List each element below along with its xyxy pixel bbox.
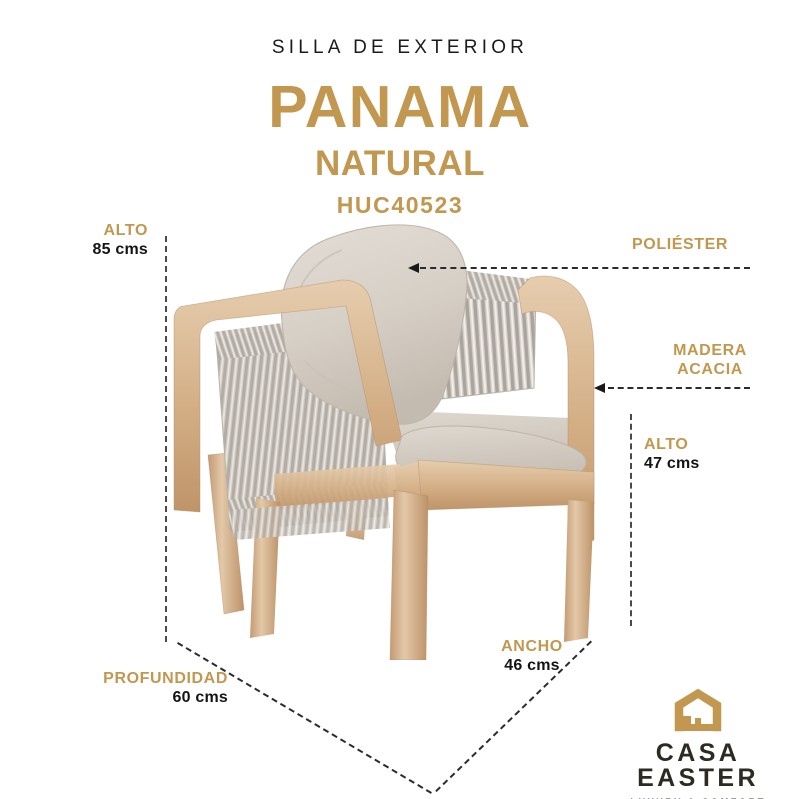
annotation-ancho-value: 46 cms	[468, 657, 596, 676]
product-variant: NATURAL	[0, 146, 800, 181]
brand-name: CASA EASTER	[598, 741, 798, 791]
annotation-profundidad-title: PROFUNDIDAD	[0, 670, 228, 689]
annotation-madera-acacia: MADERA ACACIA	[620, 342, 800, 380]
annotation-alto-total: ALTO 85 cms	[0, 222, 148, 260]
annotation-alto-total-title: ALTO	[0, 222, 148, 241]
guide-poliester-arrowhead	[408, 263, 419, 273]
product-image	[170, 210, 620, 660]
guide-madera-line	[608, 387, 750, 389]
product-model: PANAMA	[0, 78, 800, 137]
product-category: SILLA DE EXTERIOR	[0, 38, 800, 57]
guide-madera-arrowhead	[594, 383, 605, 393]
annotation-ancho-title: ANCHO	[468, 638, 596, 657]
annotation-poliester-title: POLIÉSTER	[632, 236, 800, 255]
header-block: SILLA DE EXTERIOR PANAMA NATURAL HUC4052…	[0, 0, 800, 217]
annotation-alto-total-value: 85 cms	[0, 241, 148, 260]
annotation-ancho: ANCHO 46 cms	[468, 638, 596, 676]
annotation-alto-asiento-title: ALTO	[644, 436, 794, 455]
annotation-alto-asiento: ALTO 47 cms	[644, 436, 794, 474]
guide-poliester-line	[420, 267, 750, 269]
guide-alto-total-vertical	[165, 236, 167, 642]
product-infographic: SILLA DE EXTERIOR PANAMA NATURAL HUC4052…	[0, 0, 800, 799]
annotation-madera-acacia-title: MADERA	[620, 342, 800, 361]
annotation-profundidad: PROFUNDIDAD 60 cms	[0, 670, 228, 708]
brand-logo: CASA EASTER LUXURY & COMFORT	[598, 686, 798, 799]
annotation-profundidad-value: 60 cms	[0, 689, 228, 708]
annotation-madera-acacia-title-line2: ACACIA	[620, 361, 800, 380]
guide-profundidad-diagonal	[177, 642, 432, 794]
chair-illustration	[170, 210, 620, 660]
house-arch-icon	[671, 686, 725, 734]
annotation-poliester: POLIÉSTER	[632, 236, 800, 255]
annotation-alto-asiento-value: 47 cms	[644, 455, 794, 474]
guide-alto-asiento-vertical	[630, 414, 632, 626]
